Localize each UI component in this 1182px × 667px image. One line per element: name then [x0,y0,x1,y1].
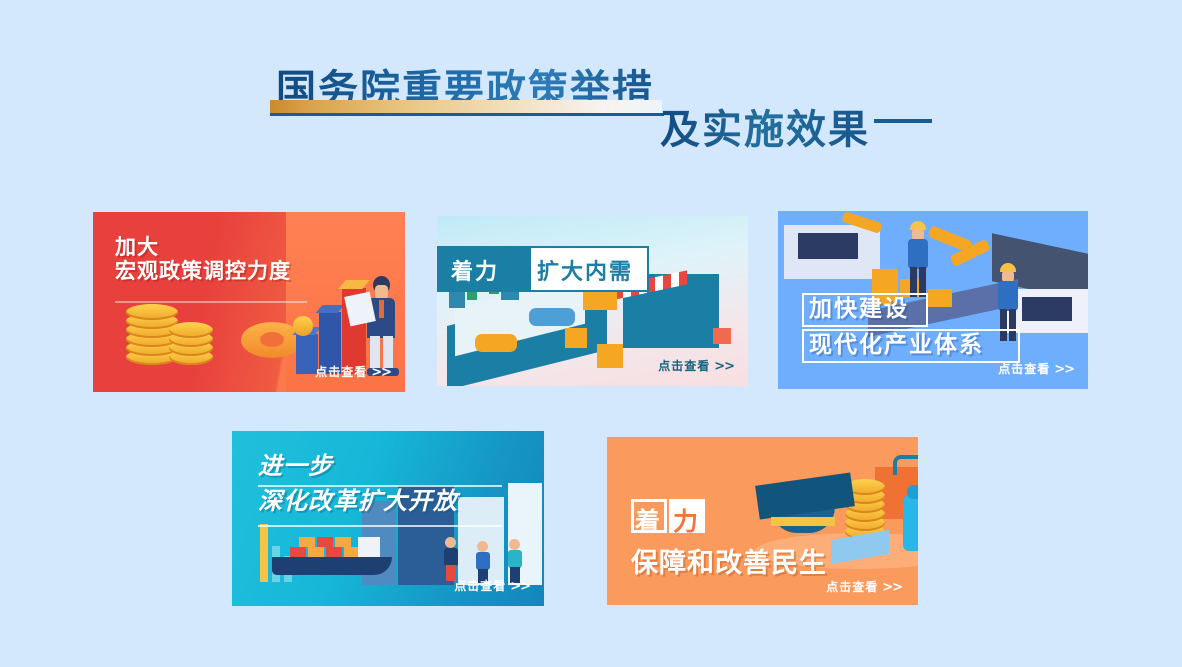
card5-headline-line-2: 保障和改善民生 [631,541,827,580]
card3-headline-line-2: 现代化产业体系 [809,333,984,359]
expand-domestic-demand-card[interactable]: 着力 扩大内需 点击查看>> [437,216,748,386]
card1-headline-rule [115,301,307,303]
card3-cta-arrow-icon: >> [1054,362,1074,377]
card1-headline: 加大 宏观政策调控力度 [115,236,291,283]
single-coin-icon [293,316,313,336]
graduation-cap-band-icon [771,517,835,526]
medicine-jar-icon [903,495,918,551]
parcel-box-icon-2 [597,344,623,368]
factory-worker-figure-1 [906,221,930,299]
card2-headline-part-b: 扩大内需 [537,254,633,286]
graduation-cap-icon [755,472,855,519]
title-trailing-dash [874,119,932,123]
title-blue-rule [270,113,664,116]
person-figure-1 [444,537,458,581]
card1-cta-label: 点击查看 [315,365,367,379]
page-title-line-2: 及实施效果 [660,97,870,155]
deepen-reform-opening-card[interactable]: 进一步 深化改革扩大开放 点击查看>> [232,431,544,606]
parcel-box-icon-3 [713,328,731,344]
card4-cta-label: 点击查看 [454,579,506,593]
card4-headline: 进一步 深化改革扩大开放 [258,453,458,515]
yellow-car-icon [475,334,517,352]
page-header: 国务院重要政策举措 及实施效果 [0,0,1182,175]
card5-cta-label: 点击查看 [826,580,878,594]
modern-industrial-system-card[interactable]: 加快建设 现代化产业体系 点击查看>> [778,211,1088,389]
card3-view-link[interactable]: 点击查看>> [998,360,1074,377]
card5-cta-arrow-icon: >> [882,580,902,595]
parcel-box-icon-1 [565,328,587,348]
card2-headline-part-a: 着力 [451,254,499,286]
card2-view-link[interactable]: 点击查看>> [658,357,734,374]
card1-headline-line-1: 加大 [115,236,291,260]
delivery-truck-icon [583,290,617,310]
card3-headline-line-1: 加快建设 [809,297,909,323]
card1-cta-arrow-icon: >> [371,365,391,380]
machine-screen-1 [798,233,858,259]
medicine-jar-cap-icon [907,485,918,499]
card5-view-link[interactable]: 点击查看>> [826,578,902,595]
title-gold-rule [270,100,662,113]
card4-headline-rule-1 [258,485,502,487]
card4-headline-line-1: 进一步 [258,453,458,480]
card4-cta-arrow-icon: >> [510,579,530,594]
card2-cta-arrow-icon: >> [714,359,734,374]
improve-peoples-livelihood-card[interactable]: 着 力 保障和改善民生 点击查看>> [607,437,918,605]
card2-headline-band: 着力 扩大内需 [437,246,748,292]
crate-icon-4 [928,289,952,307]
card2-cta-label: 点击查看 [658,359,710,373]
machine-screen-2 [1022,297,1072,321]
macro-policy-card[interactable]: 加大 宏观政策调控力度 点击查看>> [93,212,405,392]
card4-headline-rule-2 [258,525,502,527]
card5-headline-part-a: 着 [635,502,660,538]
card4-headline-line-2: 深化改革扩大开放 [258,488,458,515]
crate-icon-1 [872,269,898,287]
container-ship-icon [272,535,392,575]
card4-view-link[interactable]: 点击查看>> [454,577,530,594]
card5-headline-part-b: 力 [673,502,698,538]
card1-headline-line-2: 宏观政策调控力度 [115,260,291,284]
card1-view-link[interactable]: 点击查看>> [315,363,391,380]
statistic-bar-1 [260,524,268,582]
blue-car-icon [529,308,575,326]
briefcase-handle-icon [893,455,918,475]
coin-stack-short-icon [169,323,213,365]
card3-cta-label: 点击查看 [998,362,1050,376]
